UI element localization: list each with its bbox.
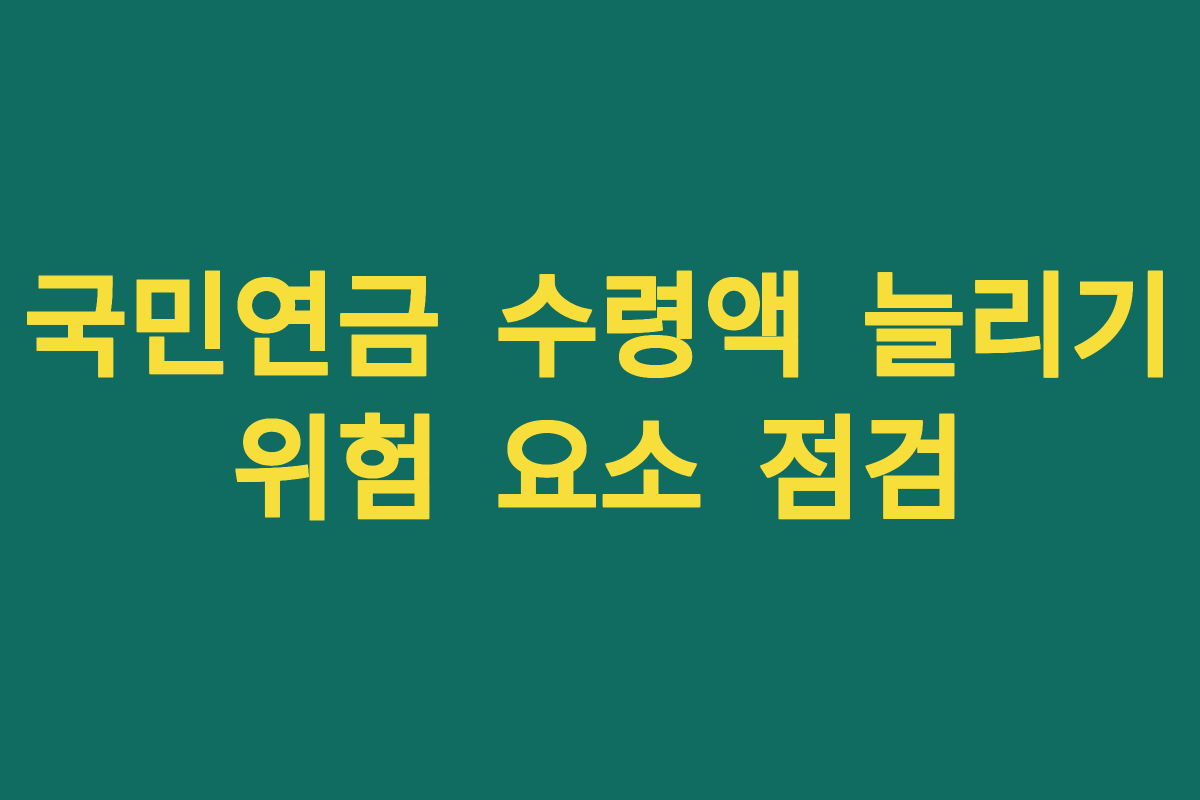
headline-line-2: 위험 요소 점검 bbox=[233, 400, 967, 543]
headline-line-1: 국민연금 수령액 늘리기 bbox=[24, 257, 1175, 400]
headline-block: 국민연금 수령액 늘리기 위험 요소 점검 bbox=[0, 257, 1200, 543]
poster-canvas: 국민연금 수령액 늘리기 위험 요소 점검 bbox=[0, 0, 1200, 800]
